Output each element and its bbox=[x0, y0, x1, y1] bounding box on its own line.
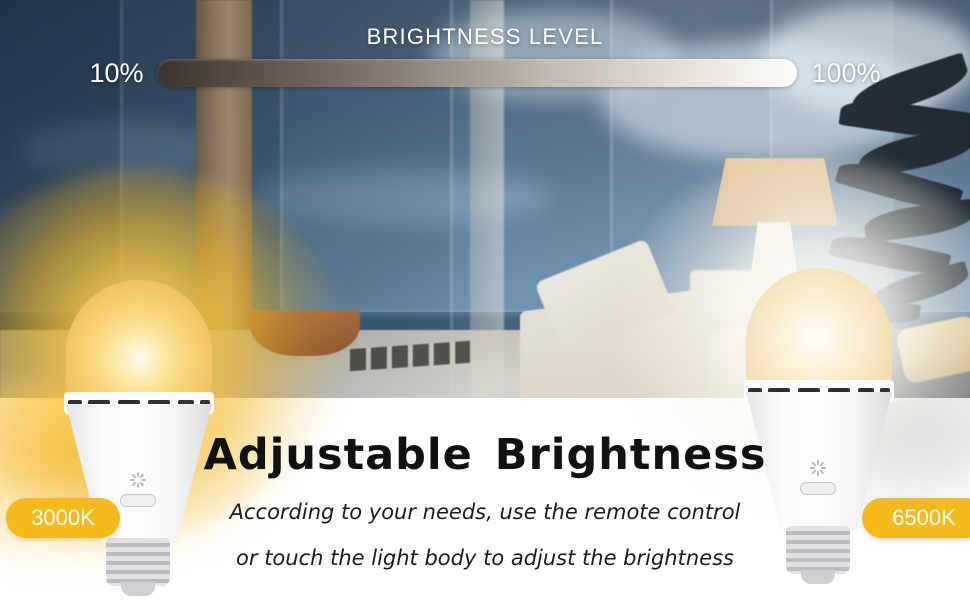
headline: Adjustable Brightness bbox=[0, 430, 970, 480]
bulb-indicator-slot bbox=[800, 482, 836, 495]
slider-min-label: 10% bbox=[89, 58, 143, 89]
bulb-base-tip bbox=[121, 582, 155, 596]
product-banner: BRIGHTNESS LEVEL 10% 100% bbox=[0, 0, 970, 600]
brightness-slider-track[interactable] bbox=[157, 59, 797, 87]
color-temperature-badge-3000k: 3000K bbox=[6, 498, 120, 538]
subtitle-line-2: or touch the light body to adjust the br… bbox=[0, 546, 970, 570]
subtitle-line-1: According to your needs, use the remote … bbox=[0, 500, 970, 524]
brightness-level-title: BRIGHTNESS LEVEL bbox=[0, 24, 970, 50]
brightness-slider-row: 10% 100% bbox=[0, 52, 970, 94]
slider-max-label: 100% bbox=[811, 58, 880, 89]
color-temperature-badge-6500k: 6500K bbox=[862, 498, 970, 538]
bulb-dome bbox=[66, 280, 212, 406]
bulb-base-tip bbox=[801, 570, 835, 584]
bulb-dome bbox=[746, 268, 892, 394]
